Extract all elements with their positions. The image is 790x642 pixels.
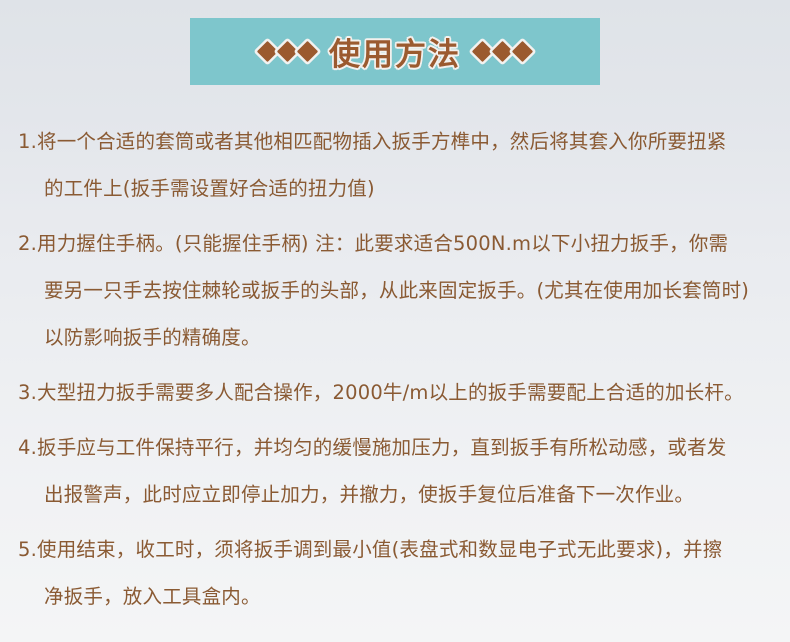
instruction-line: 要另一只手去按住棘轮或扳手的头部，从此来固定扳手。(尤其在使用加长套筒时)	[18, 267, 774, 314]
list-item: 5.使用结束，收工时，须将扳手调到最小值(表盘式和数显电子式无此要求)，并擦 净…	[18, 526, 774, 620]
page-title: 使用方法	[329, 29, 461, 74]
instruction-line: 的工件上(扳手需设置好合适的扭力值)	[18, 165, 774, 212]
instruction-list: 1.将一个合适的套筒或者其他相匹配物插入扳手方榫中，然后将其套入你所要扭紧 的工…	[0, 118, 790, 628]
list-item: 4.扳手应与工件保持平行，并均匀的缓慢施加压力，直到扳手有所松动感，或者发 出报…	[18, 424, 774, 518]
instruction-line: 3.大型扭力扳手需要多人配合操作，2000牛/m以上的扳手需要配上合适的加长杆。	[18, 369, 774, 416]
diamond-icon	[257, 41, 278, 62]
header-banner-wrapper: 使用方法	[0, 18, 790, 85]
instruction-line: 以防影响扳手的精确度。	[18, 314, 774, 361]
instruction-line: 1.将一个合适的套筒或者其他相匹配物插入扳手方榫中，然后将其套入你所要扭紧	[18, 118, 774, 165]
diamond-icon	[277, 41, 298, 62]
list-item: 2.用力握住手柄。(只能握住手柄) 注：此要求适合500N.m以下小扭力扳手，你…	[18, 220, 774, 361]
instruction-line: 净扳手，放入工具盒内。	[18, 573, 774, 620]
diamond-icon	[512, 41, 533, 62]
instruction-page: 使用方法 1.将一个合适的套筒或者其他相匹配物插入扳手方榫中，然后将其套入你所要…	[0, 0, 790, 642]
list-item: 1.将一个合适的套筒或者其他相匹配物插入扳手方榫中，然后将其套入你所要扭紧 的工…	[18, 118, 774, 212]
instruction-line: 2.用力握住手柄。(只能握住手柄) 注：此要求适合500N.m以下小扭力扳手，你…	[18, 220, 774, 267]
instruction-line: 5.使用结束，收工时，须将扳手调到最小值(表盘式和数显电子式无此要求)，并擦	[18, 526, 774, 573]
diamond-icon	[472, 41, 493, 62]
left-diamond-ornament	[260, 44, 315, 59]
diamond-icon	[492, 41, 513, 62]
right-diamond-ornament	[475, 44, 530, 59]
instruction-line: 4.扳手应与工件保持平行，并均匀的缓慢施加压力，直到扳手有所松动感，或者发	[18, 424, 774, 471]
diamond-icon	[297, 41, 318, 62]
list-item: 3.大型扭力扳手需要多人配合操作，2000牛/m以上的扳手需要配上合适的加长杆。	[18, 369, 774, 416]
header-banner: 使用方法	[190, 18, 600, 85]
instruction-line: 出报警声，此时应立即停止加力，并撤力，使扳手复位后准备下一次作业。	[18, 471, 774, 518]
